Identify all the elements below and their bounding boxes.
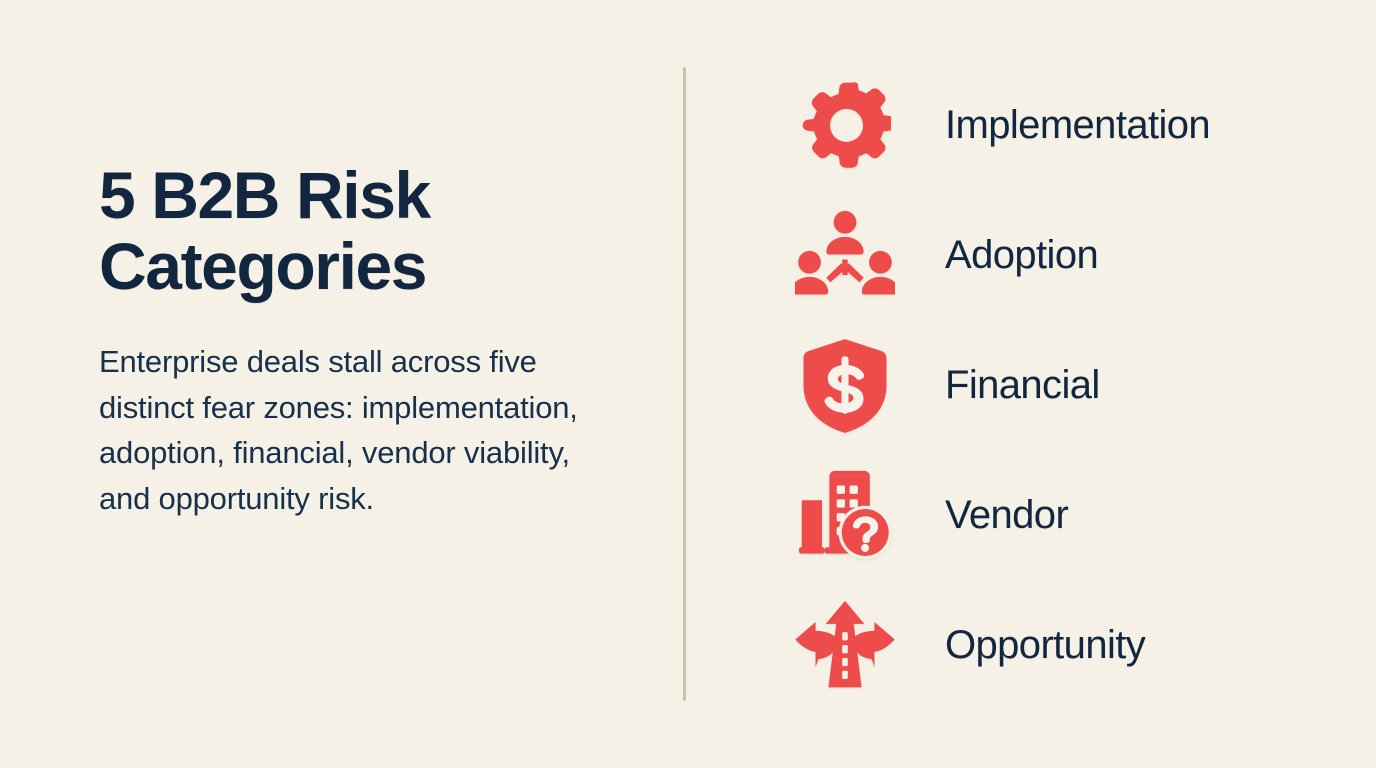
road-fork-arrows-icon: [790, 595, 900, 695]
page-title: 5 B2B Risk Categories: [99, 160, 529, 301]
list-item[interactable]: Vendor: [790, 460, 1350, 570]
people-network-icon: [790, 205, 900, 305]
list-item-label: Implementation: [945, 103, 1210, 148]
list-item[interactable]: Opportunity: [790, 590, 1350, 700]
list-item-label: Vendor: [945, 493, 1068, 538]
list-item-label: Adoption: [945, 233, 1098, 278]
left-content-panel: 5 B2B Risk Categories Enterprise deals s…: [99, 160, 619, 521]
list-item[interactable]: Financial: [790, 330, 1350, 440]
shield-dollar-icon: [790, 335, 900, 435]
list-item[interactable]: Implementation: [790, 70, 1350, 180]
slide-root: 5 B2B Risk Categories Enterprise deals s…: [0, 0, 1376, 768]
risk-category-list: Implementation: [790, 70, 1350, 700]
page-subtitle: Enterprise deals stall across five disti…: [99, 339, 599, 521]
list-item[interactable]: Adoption: [790, 200, 1350, 310]
vertical-divider: [683, 67, 686, 701]
building-question-icon: [790, 465, 900, 565]
list-item-label: Financial: [945, 363, 1100, 408]
gear-icon: [790, 75, 900, 175]
list-item-label: Opportunity: [945, 623, 1145, 668]
